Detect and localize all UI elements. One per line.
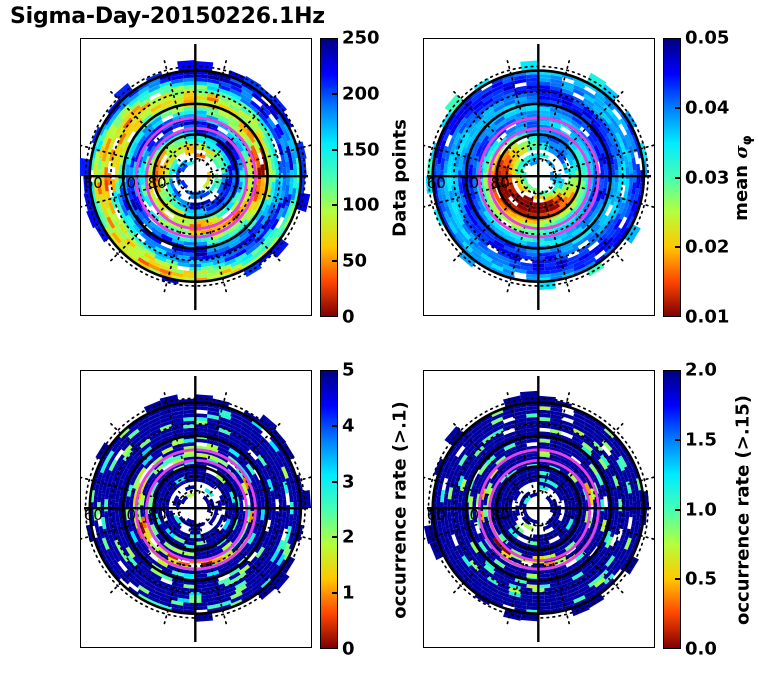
colorbar-tick-label: 250 (342, 28, 380, 49)
colorbar-tick-label: 0.03 (685, 167, 729, 188)
polar-plot-data-points (80, 38, 312, 316)
figure-root: Sigma-Day-20150226.1Hz 60708005010015020… (0, 0, 759, 674)
colorbar-gradient (320, 370, 338, 649)
panel-occurrence-rate-015 (423, 370, 655, 648)
colorbar-tick-label: 2 (342, 527, 355, 548)
colorbar-tick (332, 204, 338, 206)
latitude-label-80: 80 (148, 506, 167, 524)
colorbar-axis-label: Data points (390, 119, 411, 237)
colorbar-tick (675, 509, 681, 511)
colorbar-tick-label: 3 (342, 471, 355, 492)
colorbar-tick-label: 1.5 (685, 429, 717, 450)
panel-occurrence-rate-01 (80, 370, 312, 648)
colorbar-tick-label: 0.04 (685, 97, 729, 118)
latitude-label-80: 80 (491, 506, 510, 524)
latitude-label-60: 60 (427, 174, 446, 192)
latitude-label-60: 60 (427, 506, 446, 524)
polar-plot-occurrence-rate-01 (80, 370, 312, 648)
colorbar-tick-label: 5 (342, 360, 355, 381)
colorbar-tick-label: 0 (342, 639, 355, 660)
colorbar-axis-label: occurrence rate (>.15) (733, 395, 754, 625)
latitude-label-70: 70 (117, 506, 136, 524)
colorbar-tick-label: 0 (342, 307, 355, 328)
panel-mean-sigma-phi (423, 38, 655, 316)
panel-data-points (80, 38, 312, 316)
latitude-label-70: 70 (117, 174, 136, 192)
colorbar-tick (332, 592, 338, 594)
colorbar-tick-label: 0.01 (685, 307, 729, 328)
colorbar-tick-label: 0.02 (685, 237, 729, 258)
latitude-label-80: 80 (148, 174, 167, 192)
latitude-label-80: 80 (491, 174, 510, 192)
colorbar-tick (332, 536, 338, 538)
colorbar-tick-label: 0.5 (685, 569, 717, 590)
latitude-label-60: 60 (84, 506, 103, 524)
latitude-label-60: 60 (84, 174, 103, 192)
polar-plot-mean-sigma-phi (423, 38, 655, 316)
colorbar-gradient (320, 38, 338, 317)
colorbar-tick (332, 481, 338, 483)
colorbar-tick-label: 100 (342, 195, 380, 216)
colorbar-tick-label: 2.0 (685, 360, 717, 381)
colorbar-tick (332, 260, 338, 262)
colorbar-tick-label: 4 (342, 415, 355, 436)
colorbar-axis-label: occurrence rate (>.1) (390, 401, 411, 618)
colorbar-tick (675, 107, 681, 109)
colorbar-tick (332, 149, 338, 151)
colorbar-occurrence-rate-01 (320, 370, 338, 649)
colorbar-tick-label: 50 (342, 251, 367, 272)
colorbar-tick-label: 1 (342, 583, 355, 604)
page-title: Sigma-Day-20150226.1Hz (10, 4, 325, 29)
colorbar-tick-label: 0.05 (685, 28, 729, 49)
latitude-label-70: 70 (460, 174, 479, 192)
colorbar-tick (675, 246, 681, 248)
colorbar-tick-label: 0.0 (685, 639, 717, 660)
colorbar-data-points (320, 38, 338, 317)
colorbar-axis-label: mean σφ (731, 135, 755, 221)
polar-plot-occurrence-rate-015 (423, 370, 655, 648)
colorbar-tick-label: 150 (342, 139, 380, 160)
colorbar-tick-label: 200 (342, 83, 380, 104)
cbar-label-text: mean σφ (731, 135, 755, 221)
colorbar-tick (675, 578, 681, 580)
colorbar-tick-label: 1.0 (685, 499, 717, 520)
colorbar-tick (332, 425, 338, 427)
colorbar-tick (332, 93, 338, 95)
colorbar-tick (675, 439, 681, 441)
colorbar-tick (675, 177, 681, 179)
latitude-label-70: 70 (460, 506, 479, 524)
